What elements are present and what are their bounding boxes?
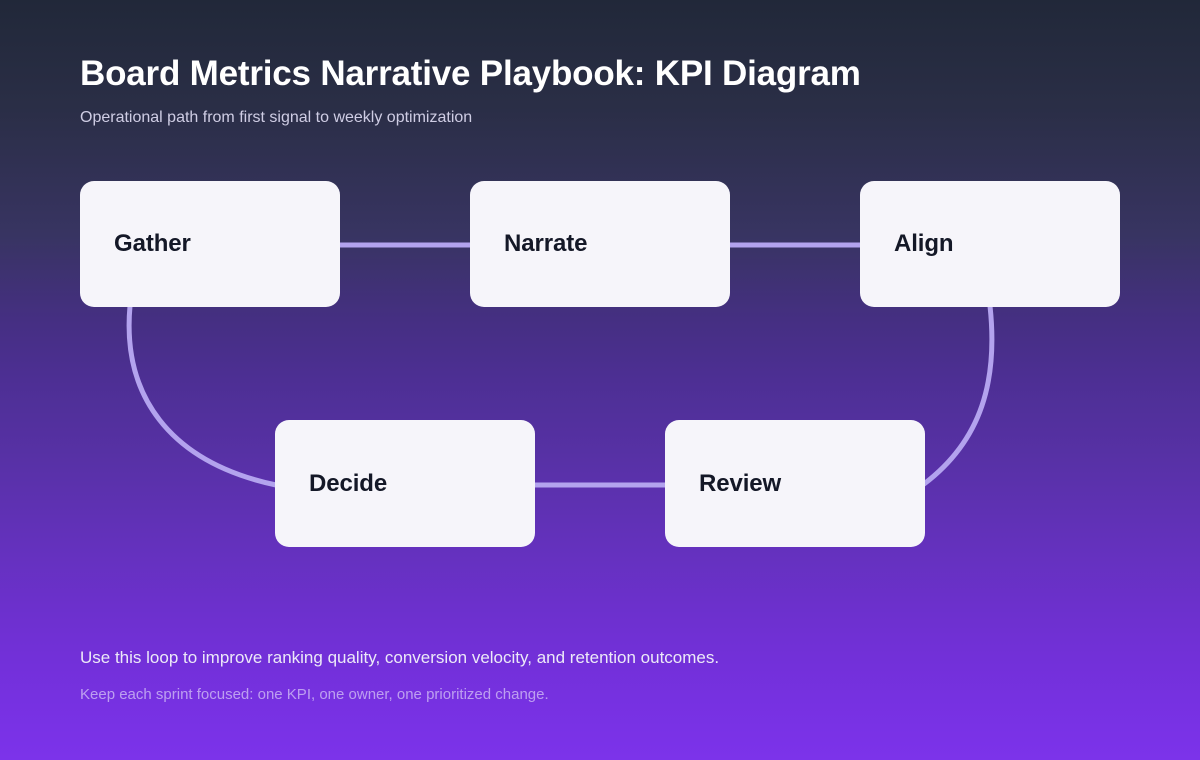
diagram-node-review[interactable]: Review (665, 420, 925, 547)
node-label-align: Align (894, 230, 954, 258)
diagram-node-align[interactable]: Align (860, 181, 1120, 307)
diagram-node-gather[interactable]: Gather (80, 181, 340, 307)
node-label-narrate: Narrate (504, 230, 587, 258)
diagram-node-narrate[interactable]: Narrate (470, 181, 730, 307)
node-label-decide: Decide (309, 470, 387, 498)
diagram-node-decide[interactable]: Decide (275, 420, 535, 547)
footer-secondary-text: Keep each sprint focused: one KPI, one o… (80, 686, 549, 703)
page-subtitle: Operational path from first signal to we… (80, 109, 472, 127)
page-title: Board Metrics Narrative Playbook: KPI Di… (80, 54, 861, 94)
node-label-gather: Gather (114, 230, 191, 258)
node-label-review: Review (699, 470, 781, 498)
footer-primary-text: Use this loop to improve ranking quality… (80, 648, 719, 668)
diagram-canvas: Board Metrics Narrative Playbook: KPI Di… (0, 0, 1200, 760)
